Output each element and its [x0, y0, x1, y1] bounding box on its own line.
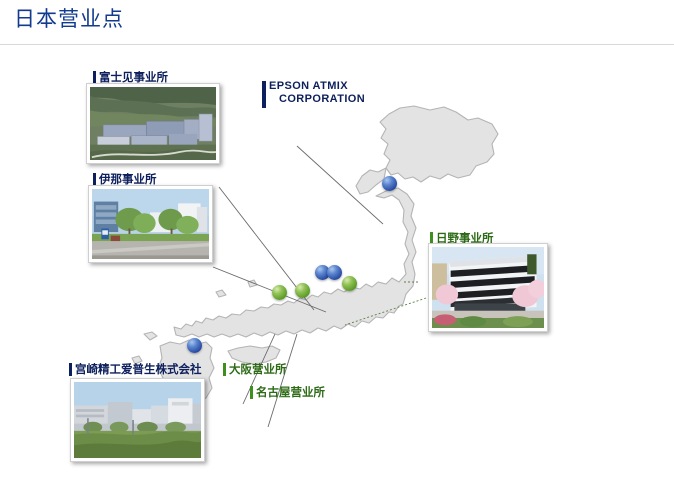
photo-image-ina — [92, 189, 209, 259]
marker-osaka[interactable] — [272, 285, 287, 300]
marker-epson-atmix[interactable] — [382, 176, 397, 191]
label-accent-bar — [69, 363, 72, 376]
label-epson-atmix[interactable]: EPSON ATMIX CORPORATION — [262, 80, 365, 108]
label-miyazaki[interactable]: 宫崎精工爱普生株式会社 — [69, 362, 202, 376]
label-accent-bar — [223, 363, 226, 376]
marker-miyazaki[interactable] — [187, 338, 202, 353]
marker-hino[interactable] — [342, 276, 357, 291]
title-divider — [0, 44, 674, 45]
label-text: 名古屋营业所 — [256, 385, 325, 399]
label-nagoya[interactable]: 名古屋营业所 — [250, 385, 325, 399]
label-text-line2: CORPORATION — [279, 93, 365, 106]
label-text: 富士见事业所 — [99, 70, 168, 84]
photo-ina[interactable] — [88, 185, 213, 263]
label-ina[interactable]: 伊那事业所 — [93, 172, 157, 186]
photo-fujimi[interactable] — [86, 83, 220, 164]
page-title: 日本营业点 — [14, 6, 124, 32]
photo-hino[interactable] — [428, 243, 548, 332]
label-fujimi[interactable]: 富士见事业所 — [93, 70, 168, 84]
marker-nagoya[interactable] — [295, 283, 310, 298]
photo-miyazaki[interactable] — [70, 378, 205, 462]
photo-image-miyazaki — [74, 382, 201, 458]
label-text: 伊那事业所 — [99, 172, 157, 186]
label-text-line1: EPSON ATMIX — [269, 80, 365, 93]
label-accent-bar — [250, 386, 253, 399]
slide-root: 日本营业点 — [0, 0, 674, 485]
photo-image-fujimi — [90, 87, 216, 160]
label-osaka[interactable]: 大阪营业所 — [223, 362, 287, 376]
label-text: 大阪营业所 — [229, 362, 287, 376]
marker-ina[interactable] — [327, 265, 342, 280]
label-accent-bar — [262, 81, 266, 108]
label-text: 宫崎精工爱普生株式会社 — [75, 362, 202, 376]
photo-image-hino — [432, 247, 544, 328]
